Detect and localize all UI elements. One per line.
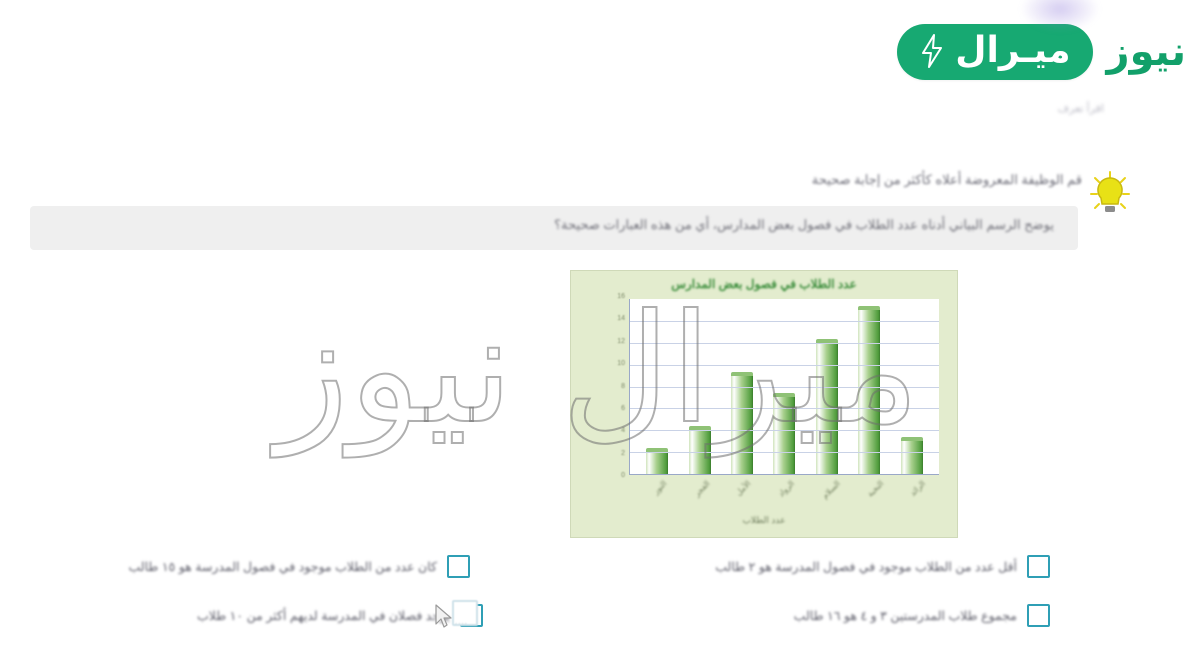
option-2-checkbox[interactable]: [447, 555, 470, 578]
chart-x-tick-1: الفجر: [692, 479, 729, 516]
chart-x-axis: النورالفجرالأملالروادالسلامالنخبةالرائد: [629, 479, 939, 513]
chart-x-tick-4: السلام: [820, 479, 859, 518]
mouse-pointer-icon: [434, 604, 456, 630]
chart-gridline: [630, 452, 939, 453]
option-row-1[interactable]: أقل عدد من الطلاب موجود في فصول المدرسة …: [715, 555, 1050, 578]
bar-chart: عدد الطلاب في فصول بعض المدارس 161412108…: [570, 270, 958, 538]
chart-bar-6: [858, 308, 880, 474]
option-row-2[interactable]: كان عدد من الطلاب موجود في فصول المدرسة …: [128, 555, 470, 578]
chart-y-tick-1: 14: [617, 315, 625, 322]
chart-y-tick-4: 8: [621, 383, 625, 390]
option-2-label: كان عدد من الطلاب موجود في فصول المدرسة …: [128, 559, 437, 574]
chart-bar-3: [731, 374, 753, 474]
option-1-label: أقل عدد من الطلاب موجود في فصول المدرسة …: [715, 559, 1017, 574]
chart-gridline: [630, 430, 939, 431]
chart-x-tick-2: الأمل: [734, 479, 770, 515]
page-root: نيوز ميـرال اقرأ تعرف قم الوظيفة المعروض…: [0, 0, 1200, 672]
chart-plot-area: [629, 299, 939, 475]
option-3-checkbox[interactable]: [1027, 604, 1050, 627]
chart-y-tick-5: 6: [621, 405, 625, 412]
chart-y-tick-7: 2: [621, 450, 625, 457]
option-3-label: مجموع طلاب المدرستين ٣ و ٤ هو ١٦ طالب: [794, 608, 1017, 623]
chart-bar-4: [773, 395, 795, 474]
option-1-checkbox[interactable]: [1027, 555, 1050, 578]
brand-pill: ميـرال: [897, 24, 1092, 80]
site-logo: نيوز ميـرال: [897, 24, 1186, 80]
question-banner: يوضح الرسم البياني أدناه عدد الطلاب في ف…: [30, 206, 1078, 250]
chart-gridline: [630, 387, 939, 388]
loading-dots: ....: [455, 617, 468, 626]
chart-y-tick-3: 10: [617, 360, 625, 367]
question-banner-text: يوضح الرسم البياني أدناه عدد الطلاب في ف…: [30, 217, 1064, 233]
chart-y-tick-6: 4: [621, 427, 625, 434]
chart-bar-1: [646, 450, 668, 474]
chart-bar-7: [901, 439, 923, 474]
option-4-label: يوجد فصلان في المدرسة لديهم أكثر من ١٠ ط…: [197, 608, 450, 623]
chart-gridline: [630, 365, 939, 366]
chart-x-tick-6: الرائد: [908, 479, 945, 516]
chart-gridline: [630, 321, 939, 322]
chart-x-tick-5: النخبة: [865, 479, 902, 516]
chart-gridline: [630, 343, 939, 344]
chart-y-tick-8: 0: [621, 472, 625, 479]
option-row-3[interactable]: مجموع طلاب المدرستين ٣ و ٤ هو ١٦ طالب: [794, 604, 1050, 627]
brand-word: نيوز: [1107, 32, 1186, 72]
chart-x-axis-title: عدد الطلاب: [571, 515, 957, 526]
chart-x-tick-0: النور: [652, 479, 687, 514]
chart-y-tick-0: 16: [617, 293, 625, 300]
lightning-bolt-icon: [919, 34, 945, 68]
chart-bar-5: [816, 341, 838, 474]
lightbulb-icon: [1088, 170, 1132, 218]
chart-y-axis: 1614121086420: [603, 293, 625, 479]
chart-y-tick-2: 12: [617, 338, 625, 345]
chart-x-tick-3: الرواد: [776, 479, 813, 516]
question-prompt: قم الوظيفة المعروضة أعلاه كأكثر من إجابة…: [812, 172, 1082, 188]
chart-gridline: [630, 408, 939, 409]
brand-pill-text: ميـرال: [955, 33, 1070, 69]
chart-title: عدد الطلاب في فصول بعض المدارس: [571, 277, 957, 291]
chart-bar-2: [689, 428, 711, 474]
brand-subtitle: اقرأ تعرف: [1058, 102, 1104, 115]
